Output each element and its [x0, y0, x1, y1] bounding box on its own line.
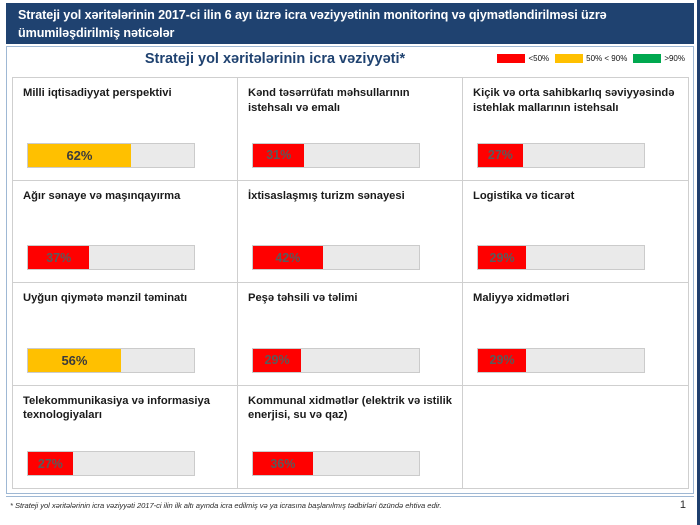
progress-bar-fill: 29% [478, 349, 526, 372]
progress-bar-wrapper: 31% [252, 143, 452, 168]
legend-swatch-green-icon [633, 54, 661, 63]
card-title: Ağır sənaye və maşınqayırma [23, 189, 227, 204]
progress-bar-wrapper: 29% [477, 245, 678, 270]
slide-footer: * Strateji yol xəritələrinin icra vəziyy… [6, 496, 694, 520]
roadmap-card[interactable]: Kommunal xidmətlər (elektrik və istilik … [238, 386, 463, 489]
progress-bar-wrapper: 27% [477, 143, 678, 168]
progress-bar-fill: 36% [253, 452, 313, 475]
card-title: Telekommunikasiya və informasiya texnolo… [23, 394, 227, 424]
progress-bar-track: 31% [252, 143, 420, 168]
legend-item-low: <50% [497, 54, 549, 63]
legend: <50% 50% < 90% >90% [497, 54, 685, 63]
progress-bar-wrapper: 36% [252, 451, 452, 476]
progress-bar-track: 29% [477, 245, 645, 270]
progress-bar-fill: 29% [478, 246, 526, 269]
progress-bar-fill: 27% [478, 144, 523, 167]
legend-label-low: <50% [528, 54, 549, 63]
progress-bar-wrapper: 29% [477, 348, 678, 373]
card-title: Milli iqtisadiyyat perspektivi [23, 86, 227, 101]
slide-header: Strateji yol xəritələrinin 2017-ci ilin … [6, 3, 694, 44]
footnote: * Strateji yol xəritələrinin icra vəziyy… [10, 501, 442, 510]
legend-item-mid: 50% < 90% [555, 54, 627, 63]
page-number: 1 [680, 499, 686, 511]
progress-bar-fill: 37% [28, 246, 89, 269]
roadmap-card[interactable]: Uyğun qiymətə mənzil təminatı56% [13, 283, 238, 386]
legend-swatch-amber-icon [555, 54, 583, 63]
content-panel: Strateji yol xəritələrinin icra vəziyyət… [6, 46, 694, 494]
card-title: İxtisaslaşmış turizm sənayesi [248, 189, 452, 204]
slide: Strateji yol xəritələrinin 2017-ci ilin … [0, 0, 700, 525]
roadmap-card[interactable]: Milli iqtisadiyyat perspektivi62% [13, 78, 238, 181]
roadmap-card[interactable]: Maliyyə xidmətləri29% [463, 283, 688, 386]
roadmap-card[interactable]: Peşə təhsili və təlimi29% [238, 283, 463, 386]
card-title: Kənd təsərrüfatı məhsullarının istehsalı… [248, 86, 452, 116]
legend-item-high: >90% [633, 54, 685, 63]
progress-bar-wrapper: 62% [27, 143, 227, 168]
card-title: Uyğun qiymətə mənzil təminatı [23, 291, 227, 306]
progress-bar-track: 42% [252, 245, 420, 270]
progress-bar-track: 27% [27, 451, 195, 476]
legend-swatch-red-icon [497, 54, 525, 63]
progress-bar-track: 62% [27, 143, 195, 168]
roadmap-card[interactable]: İxtisaslaşmış turizm sənayesi42% [238, 181, 463, 284]
card-title: Logistika və ticarət [473, 189, 678, 204]
progress-bar-fill: 29% [253, 349, 301, 372]
roadmap-card[interactable]: Kiçik və orta sahibkarlıq səviyyəsində i… [463, 78, 688, 181]
header-title: Strateji yol xəritələrinin 2017-ci ilin … [18, 8, 607, 40]
card-title: Peşə təhsili və təlimi [248, 291, 452, 306]
progress-bar-track: 56% [27, 348, 195, 373]
progress-bar-fill: 56% [28, 349, 121, 372]
progress-bar-wrapper: 56% [27, 348, 227, 373]
card-title: Kiçik və orta sahibkarlıq səviyyəsində i… [473, 86, 678, 116]
roadmap-card[interactable]: Logistika və ticarət29% [463, 181, 688, 284]
card-title: Maliyyə xidmətləri [473, 291, 678, 306]
roadmap-card-empty [463, 386, 688, 489]
legend-label-mid: 50% < 90% [586, 54, 627, 63]
progress-bar-fill: 27% [28, 452, 73, 475]
progress-bar-fill: 42% [253, 246, 323, 269]
progress-bar-track: 36% [252, 451, 420, 476]
progress-bar-fill: 31% [253, 144, 304, 167]
progress-bar-track: 29% [477, 348, 645, 373]
progress-bar-wrapper: 27% [27, 451, 227, 476]
progress-bar-fill: 62% [28, 144, 131, 167]
progress-bar-wrapper: 42% [252, 245, 452, 270]
progress-bar-track: 37% [27, 245, 195, 270]
roadmap-card[interactable]: Kənd təsərrüfatı məhsullarının istehsalı… [238, 78, 463, 181]
roadmap-card[interactable]: Ağır sənaye və maşınqayırma37% [13, 181, 238, 284]
progress-bar-track: 27% [477, 143, 645, 168]
card-title: Kommunal xidmətlər (elektrik və istilik … [248, 394, 452, 424]
roadmap-card-grid: Milli iqtisadiyyat perspektivi62%Kənd tə… [12, 77, 689, 489]
progress-bar-track: 29% [252, 348, 420, 373]
subhead-row: Strateji yol xəritələrinin icra vəziyyət… [7, 47, 693, 77]
progress-bar-wrapper: 29% [252, 348, 452, 373]
progress-bar-wrapper: 37% [27, 245, 227, 270]
roadmap-card[interactable]: Telekommunikasiya və informasiya texnolo… [13, 386, 238, 489]
legend-label-high: >90% [664, 54, 685, 63]
